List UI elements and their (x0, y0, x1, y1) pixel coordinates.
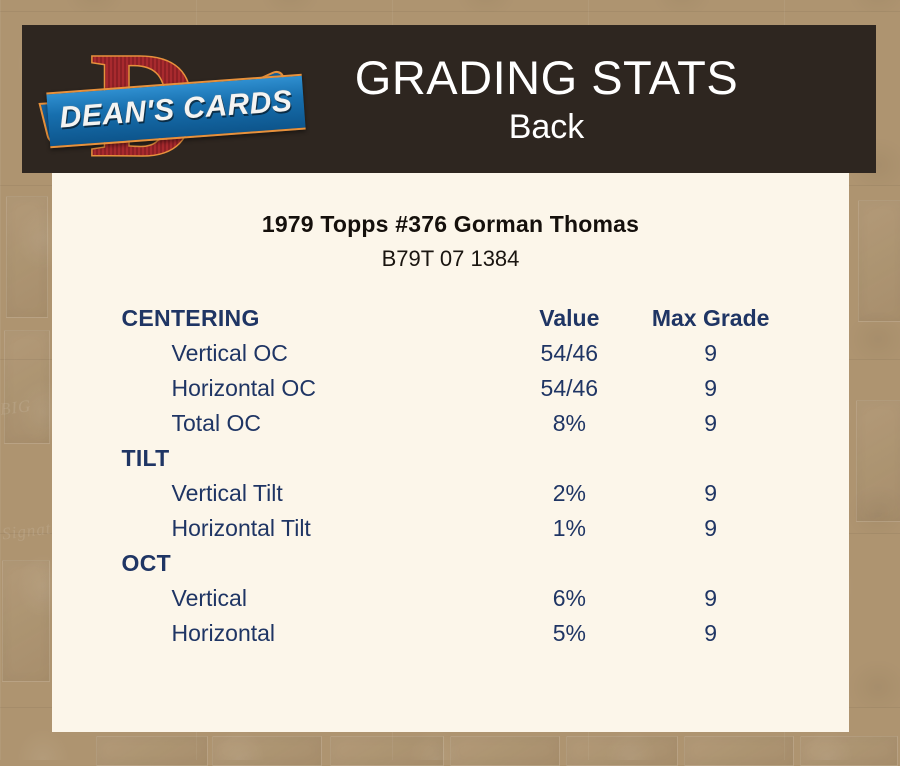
ghost-card (800, 736, 898, 766)
ghost-card (566, 736, 678, 766)
table-row: Horizontal OC 54/46 9 (120, 371, 782, 406)
table-row: Vertical Tilt 2% 9 (120, 476, 782, 511)
page-subtitle: Back (277, 106, 816, 148)
row-value: 1% (499, 511, 640, 546)
row-max-grade: 9 (640, 581, 782, 616)
row-value: 5% (499, 616, 640, 651)
row-value: 6% (499, 581, 640, 616)
page-title: GRADING STATS (277, 50, 816, 106)
section-header-spacer (499, 546, 640, 581)
row-value: 8% (499, 406, 640, 441)
ghost-card (450, 736, 560, 766)
section-header-spacer (640, 546, 782, 581)
row-label: Vertical (120, 581, 499, 616)
section-header-row: TILT (120, 441, 782, 476)
header-title-group: GRADING STATS Back (277, 50, 876, 148)
ghost-card (856, 400, 900, 522)
ghost-signature: BIG (0, 396, 32, 420)
row-max-grade: 9 (640, 406, 782, 441)
column-header-value: Value (499, 301, 640, 336)
content-panel: 1979 Topps #376 Gorman Thomas B79T 07 13… (52, 173, 849, 732)
table-row: Horizontal Tilt 1% 9 (120, 511, 782, 546)
grading-stats-table: CENTERING Value Max Grade Vertical OC 54… (120, 301, 782, 651)
ghost-card (684, 736, 794, 766)
row-label: Total OC (120, 406, 499, 441)
table-header-row: CENTERING Value Max Grade (120, 301, 782, 336)
ghost-card (4, 330, 50, 444)
column-header-centering: CENTERING (120, 301, 499, 336)
ghost-card (858, 200, 900, 322)
ghost-card (96, 736, 208, 766)
row-max-grade: 9 (640, 371, 782, 406)
table-row: Horizontal 5% 9 (120, 616, 782, 651)
ghost-card (6, 196, 48, 318)
section-header-row: OCT (120, 546, 782, 581)
section-header-oct: OCT (120, 546, 499, 581)
ghost-card (330, 736, 444, 766)
table-row: Vertical OC 54/46 9 (120, 336, 782, 371)
row-value: 54/46 (499, 336, 640, 371)
row-value: 54/46 (499, 371, 640, 406)
row-label: Horizontal Tilt (120, 511, 499, 546)
section-header-spacer (499, 441, 640, 476)
row-max-grade: 9 (640, 336, 782, 371)
page-header: D D DEAN'S CARDS GRADING STATS Back (22, 25, 876, 173)
row-max-grade: 9 (640, 616, 782, 651)
row-max-grade: 9 (640, 511, 782, 546)
row-value: 2% (499, 476, 640, 511)
deans-cards-logo[interactable]: D D DEAN'S CARDS (22, 25, 277, 173)
table-row: Total OC 8% 9 (120, 406, 782, 441)
ghost-card (2, 560, 50, 682)
row-label: Horizontal OC (120, 371, 499, 406)
section-header-spacer (640, 441, 782, 476)
table-head: CENTERING Value Max Grade (120, 301, 782, 336)
column-header-max-grade: Max Grade (640, 301, 782, 336)
table-body: Vertical OC 54/46 9 Horizontal OC 54/46 … (120, 336, 782, 651)
card-title: 1979 Topps #376 Gorman Thomas (52, 209, 849, 239)
row-label: Vertical OC (120, 336, 499, 371)
card-serial: B79T 07 1384 (52, 245, 849, 273)
row-label: Vertical Tilt (120, 476, 499, 511)
table-row: Vertical 6% 9 (120, 581, 782, 616)
ghost-card (212, 736, 322, 766)
section-header-tilt: TILT (120, 441, 499, 476)
row-max-grade: 9 (640, 476, 782, 511)
row-label: Horizontal (120, 616, 499, 651)
